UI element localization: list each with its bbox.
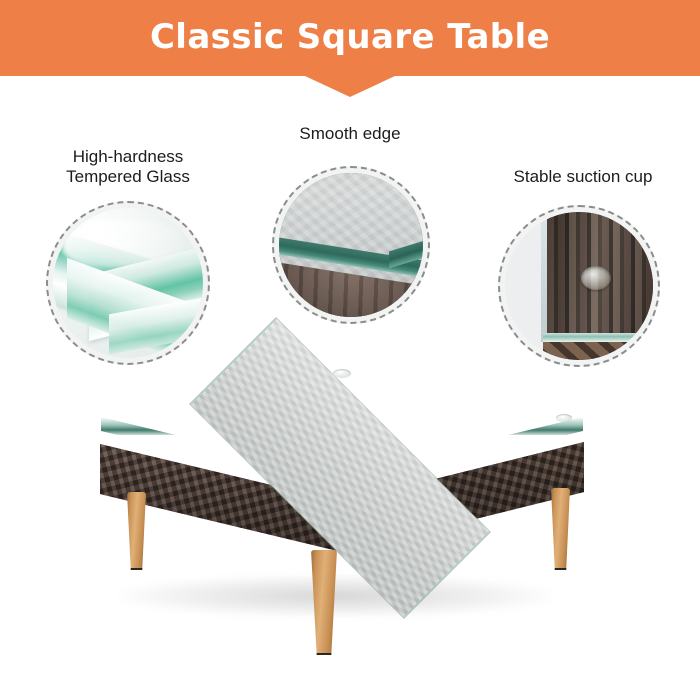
callout-image-smooth-edge [272,166,430,324]
suction-cup-icon [581,266,611,290]
callout-label-tempered-glass: High-hardness Tempered Glass [18,147,238,187]
banner-pointer-triangle [305,76,395,97]
header-banner: Classic Square Table [0,0,700,76]
glass-highlight [63,220,183,268]
glass-scene [53,208,203,358]
rattan-lower-weave [543,342,653,360]
glass-edge-line [543,333,653,342]
callout-image-suction-cup [498,205,660,367]
suction-cup-photo [505,212,653,360]
callout-label-smooth-edge: Smooth edge [250,124,450,144]
product-photo [0,360,700,700]
suction-cup-on-top [556,414,572,422]
cup-scene [505,212,653,360]
suction-cup-on-top [333,369,351,378]
page-title: Classic Square Table [0,0,700,76]
frame-edge-highlight [541,212,547,342]
callout-label-suction-cup: Stable suction cup [478,167,688,187]
product-infographic: Classic Square Table High-hardness Tempe… [0,0,700,700]
smooth-edge-photo [279,173,423,317]
edge-scene [279,173,423,317]
glass-panes-photo [53,208,203,358]
callout-image-tempered-glass [46,201,210,365]
table-leg [311,550,337,655]
